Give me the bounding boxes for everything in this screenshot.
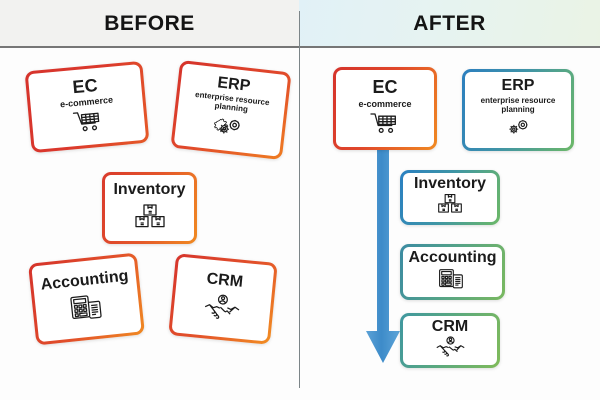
card-accounting-after-inner: Accounting <box>403 247 502 297</box>
card-ec-before-subtitle: e-commerce <box>60 95 114 110</box>
card-crm-after[interactable]: CRM <box>400 313 500 368</box>
card-erp-before-inner: ERP enterprise resource planning <box>174 63 288 156</box>
card-erp-after[interactable]: ERP enterprise resource planning <box>462 69 574 151</box>
card-erp-before[interactable]: ERP enterprise resource planning <box>170 60 291 160</box>
card-crm-before[interactable]: CRM <box>168 253 278 345</box>
gears-icon <box>211 114 246 144</box>
card-erp-before-subtitle: enterprise resource planning <box>183 90 279 119</box>
calculator-icon <box>438 268 467 294</box>
before-heading: BEFORE <box>104 12 195 36</box>
handshake-icon <box>435 336 466 362</box>
card-accounting-before[interactable]: Accounting <box>28 253 145 346</box>
card-ec-after-inner: EC e-commerce <box>336 70 434 147</box>
boxes-icon <box>436 193 464 219</box>
card-inventory-before-title: Inventory <box>113 182 185 199</box>
card-ec-after[interactable]: EC e-commerce <box>333 67 437 150</box>
card-accounting-before-inner: Accounting <box>32 256 142 342</box>
card-accounting-after[interactable]: Accounting <box>400 244 505 300</box>
header-after-cell: AFTER <box>299 0 600 47</box>
shopping-cart-icon <box>72 109 104 139</box>
card-crm-before-title: CRM <box>206 271 244 291</box>
card-crm-after-title: CRM <box>432 319 468 336</box>
card-erp-after-inner: ERP enterprise resource planning <box>465 72 571 148</box>
after-heading: AFTER <box>413 12 486 36</box>
handshake-icon <box>202 292 243 327</box>
card-erp-after-title: ERP <box>502 78 535 95</box>
card-accounting-after-title: Accounting <box>409 250 497 267</box>
card-inventory-after-title: Inventory <box>414 176 486 193</box>
card-inventory-after-inner: Inventory <box>403 173 497 222</box>
card-inventory-before-inner: Inventory <box>105 175 194 241</box>
boxes-icon <box>133 203 167 234</box>
card-inventory-after[interactable]: Inventory <box>400 170 500 225</box>
card-crm-before-inner: CRM <box>172 257 275 342</box>
card-accounting-before-title: Accounting <box>40 269 129 295</box>
header-before-cell: BEFORE <box>0 0 299 47</box>
gears-icon <box>502 117 534 142</box>
panel-center-divider <box>299 11 301 388</box>
shopping-cart-icon <box>370 112 400 139</box>
card-ec-after-subtitle: e-commerce <box>358 99 411 109</box>
calculator-icon <box>68 292 107 327</box>
card-ec-after-title: EC <box>372 78 397 97</box>
card-ec-before[interactable]: EC e-commerce <box>25 61 150 153</box>
card-inventory-before[interactable]: Inventory <box>102 172 197 244</box>
card-ec-before-title: EC <box>72 76 99 97</box>
card-erp-after-subtitle: enterprise resource planning <box>468 97 568 115</box>
card-crm-after-inner: CRM <box>403 316 497 365</box>
card-ec-before-inner: EC e-commerce <box>28 64 146 149</box>
